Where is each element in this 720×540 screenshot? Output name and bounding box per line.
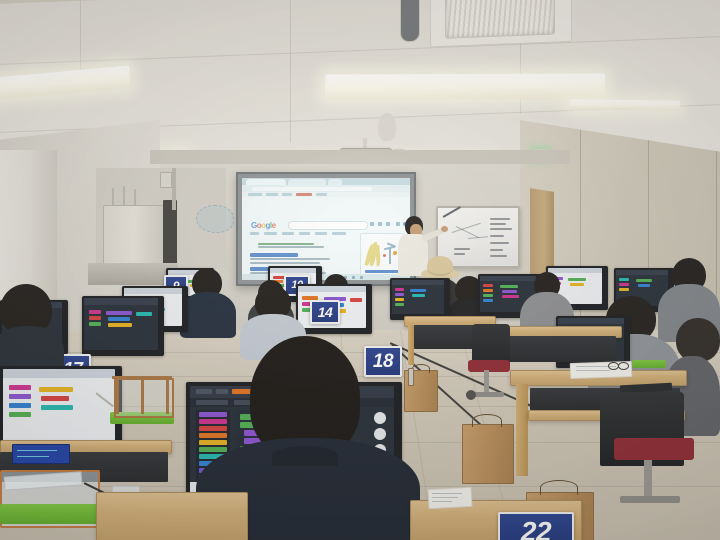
bookmark-item[interactable]	[296, 193, 312, 196]
camera-icon[interactable]	[378, 222, 382, 226]
ac-vent-slim-rear	[400, 0, 420, 42]
desk-sign-number: 14	[318, 305, 333, 319]
ceiling-light-1	[0, 65, 130, 106]
ceiling-light-8	[570, 99, 680, 111]
mic-icon[interactable]	[370, 222, 374, 226]
desk-panel	[504, 336, 616, 362]
paper-bag-handle	[540, 480, 578, 495]
cabinet-conduit	[172, 168, 176, 210]
desk-leg	[516, 384, 528, 476]
tab-maps[interactable]	[315, 232, 327, 235]
paper-bag-handle	[472, 414, 502, 427]
student-body	[180, 292, 236, 338]
ceiling-light-2	[325, 73, 606, 99]
knowledge-panel-image	[365, 238, 399, 268]
search-filter-tabs	[250, 232, 368, 236]
paper-bag	[408, 368, 414, 386]
model-kit-base	[632, 360, 666, 368]
paper-bag-handle	[412, 364, 430, 373]
status-icon	[360, 276, 363, 279]
tab-more[interactable]	[332, 232, 346, 235]
chair-post	[484, 370, 489, 394]
collar	[272, 446, 338, 466]
desk-sign-number: 18	[373, 352, 393, 371]
desk-sign-22: 22	[498, 512, 574, 540]
antenna-icon-1	[112, 188, 114, 206]
url-input[interactable]	[252, 187, 372, 191]
status-icon	[352, 276, 355, 279]
antenna-icon-3	[134, 189, 136, 206]
model-kit-roof	[112, 376, 172, 379]
wall-decal	[196, 205, 234, 233]
bookmark-item[interactable]	[282, 193, 292, 196]
knowledge-panel-title	[365, 270, 399, 273]
paper-bag	[462, 424, 514, 484]
antenna-icon-2	[123, 186, 125, 206]
desk-foreground-left	[96, 492, 248, 540]
apps-grid-icon[interactable]	[396, 222, 400, 226]
chair-caster	[466, 390, 476, 400]
chair-base	[620, 496, 680, 503]
desk-sign-14: 14	[310, 300, 340, 324]
chair-post	[644, 460, 652, 500]
model-kit-post	[141, 378, 144, 414]
tab-news[interactable]	[299, 232, 310, 235]
classroom-photo: Google	[0, 0, 720, 540]
google-logo: Google	[251, 221, 276, 230]
desk-sign-number: 22	[521, 518, 551, 540]
lcd-display	[12, 444, 70, 464]
model-kit-post	[116, 378, 119, 414]
bucket-hat	[427, 256, 453, 276]
search-result-item[interactable]	[258, 241, 328, 248]
monitor	[390, 278, 450, 320]
acrylic-model-base	[0, 504, 98, 524]
search-icon[interactable]	[386, 222, 390, 226]
projection-screen: Google	[236, 172, 416, 286]
back-wall-soffit	[150, 150, 570, 164]
office-chair-seat	[468, 360, 510, 372]
search-input[interactable]	[288, 221, 368, 230]
eyeglasses	[618, 362, 629, 370]
cabinet-junction-box	[160, 172, 172, 188]
instructor-hand	[441, 226, 448, 232]
tab-all[interactable]	[250, 232, 259, 235]
monitor	[82, 296, 164, 356]
office-chair-seat	[614, 438, 694, 460]
bookmark-item[interactable]	[316, 193, 327, 196]
paper-handout	[428, 487, 473, 509]
ac-vent-ceiling-rear	[445, 0, 555, 39]
desk-sign-18: 18	[364, 346, 402, 377]
model-kit-frame	[114, 378, 174, 418]
bookmark-item[interactable]	[266, 193, 278, 196]
tab-images[interactable]	[264, 232, 277, 235]
search-result-item[interactable]	[250, 253, 334, 264]
sprinkler-icon	[378, 113, 396, 142]
tab-videos[interactable]	[282, 232, 294, 235]
model-kit-post	[166, 378, 169, 414]
network-cabinet	[103, 205, 165, 267]
bookmark-item[interactable]	[248, 193, 262, 196]
